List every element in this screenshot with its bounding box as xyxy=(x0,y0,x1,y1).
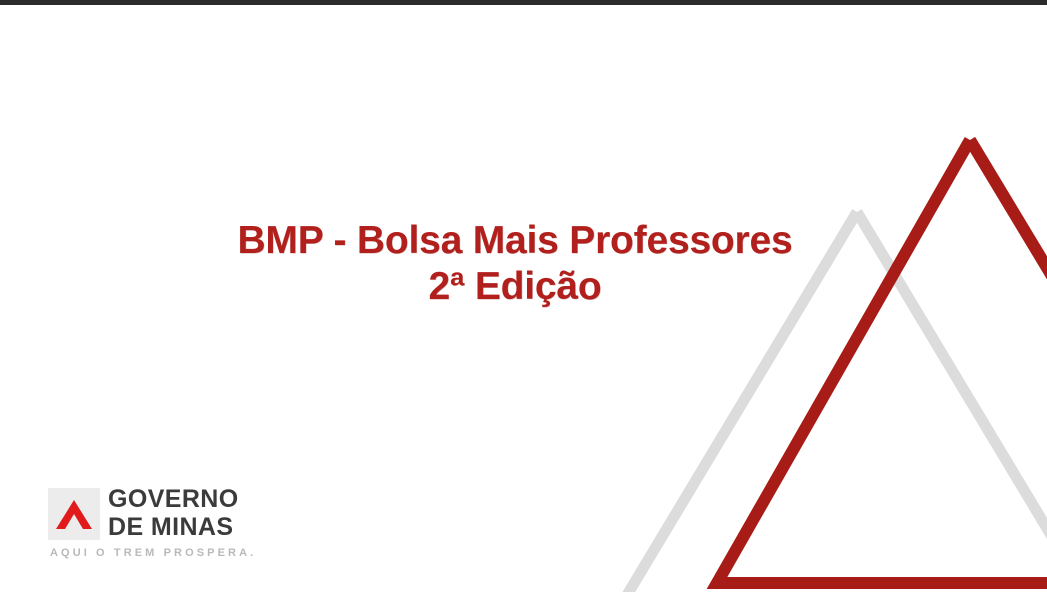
governo-de-minas-logo: GOVERNO DE MINAS AQUI O TREM PROSPERA. xyxy=(48,487,256,559)
page-title: BMP - Bolsa Mais Professores 2ª Edição xyxy=(0,218,1030,310)
logo-word-line-1: GOVERNO xyxy=(108,487,239,512)
title-line-1: BMP - Bolsa Mais Professores xyxy=(0,218,1030,264)
logo-row: GOVERNO DE MINAS xyxy=(48,487,239,540)
chevron-icon xyxy=(48,488,100,540)
logo-wordmark: GOVERNO DE MINAS xyxy=(108,487,239,540)
logo-word-line-2: DE MINAS xyxy=(108,515,239,540)
title-line-2: 2ª Edição xyxy=(0,264,1030,310)
presentation-slide: BMP - Bolsa Mais Professores 2ª Edição G… xyxy=(0,0,1047,592)
logo-tagline: AQUI O TREM PROSPERA. xyxy=(50,547,256,559)
red-triangle-outline xyxy=(717,140,1047,583)
top-bar xyxy=(0,0,1047,5)
